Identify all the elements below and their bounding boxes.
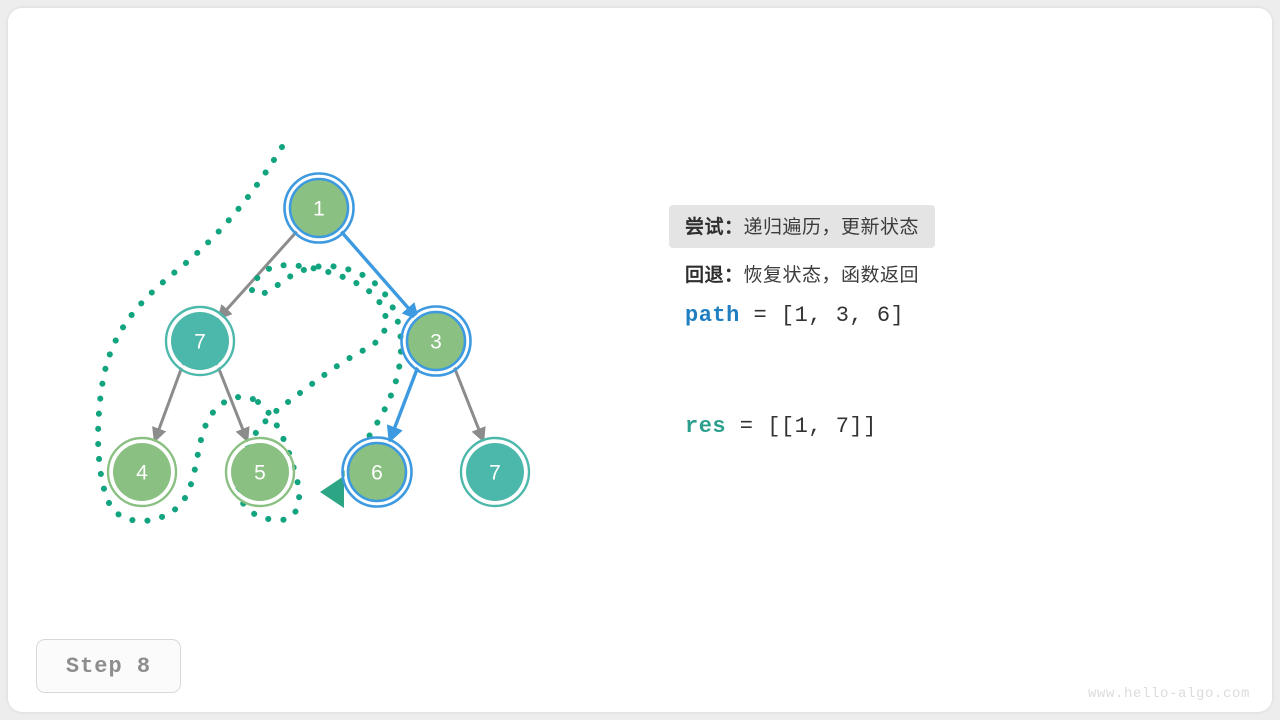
step-badge: Step 8 xyxy=(36,639,181,693)
legend-try-highlight: 尝试：递归遍历，更新状态 xyxy=(669,205,935,248)
edge-7l-to-4 xyxy=(155,364,183,440)
res-variable-name: res xyxy=(685,414,726,439)
legend-backtrack-text: 恢复状态，函数返回 xyxy=(744,265,920,286)
trail-up-and-over xyxy=(252,265,386,402)
trail-arrowhead-icon xyxy=(320,476,344,508)
tree-node-7-left[interactable]: 7 xyxy=(166,307,234,375)
path-variable-value: = [1, 3, 6] xyxy=(740,303,904,328)
step-badge-label: Step 8 xyxy=(66,654,151,679)
tree-node-6[interactable]: 6 xyxy=(343,438,412,507)
node-1-label: 1 xyxy=(313,198,325,221)
edge-1-to-7l xyxy=(219,229,299,318)
legend-try-key: 尝试： xyxy=(685,217,744,238)
edge-3-to-7r xyxy=(453,364,483,440)
tree-node-3[interactable]: 3 xyxy=(402,307,471,376)
node-7r-label: 7 xyxy=(489,462,501,485)
res-variable-value: = [[1, 7]] xyxy=(726,414,877,439)
tree-node-1[interactable]: 1 xyxy=(285,174,354,243)
tree-node-7-right[interactable]: 7 xyxy=(461,438,529,506)
legend-try-text: 递归遍历，更新状态 xyxy=(744,217,920,238)
node-3-label: 3 xyxy=(430,331,442,354)
state-panel: 尝试：递归遍历，更新状态 回退：恢复状态，函数返回 path = [1, 3, … xyxy=(685,205,1105,439)
edge-3-to-6 xyxy=(390,364,419,440)
legend-backtrack-key: 回退： xyxy=(685,265,744,286)
tree-node-4[interactable]: 4 xyxy=(108,438,176,506)
node-7l-label: 7 xyxy=(194,331,206,354)
legend-backtrack-row: 回退：恢复状态，函数返回 xyxy=(685,252,1105,287)
path-state-row: path = [1, 3, 6] xyxy=(685,303,1105,328)
node-5-label: 5 xyxy=(254,462,266,485)
figure-canvas: 1 7 3 4 xyxy=(0,0,1280,720)
watermark-url: www.hello-algo.com xyxy=(1088,686,1250,702)
res-state-row: res = [[1, 7]] xyxy=(685,414,1105,439)
path-variable-name: path xyxy=(685,303,740,328)
node-4-label: 4 xyxy=(136,462,148,485)
legend-try-row: 尝试：递归遍历，更新状态 xyxy=(685,205,1105,248)
tree-node-5[interactable]: 5 xyxy=(226,438,294,506)
node-6-label: 6 xyxy=(371,462,383,485)
tree-nodes: 1 7 3 4 xyxy=(108,174,529,507)
